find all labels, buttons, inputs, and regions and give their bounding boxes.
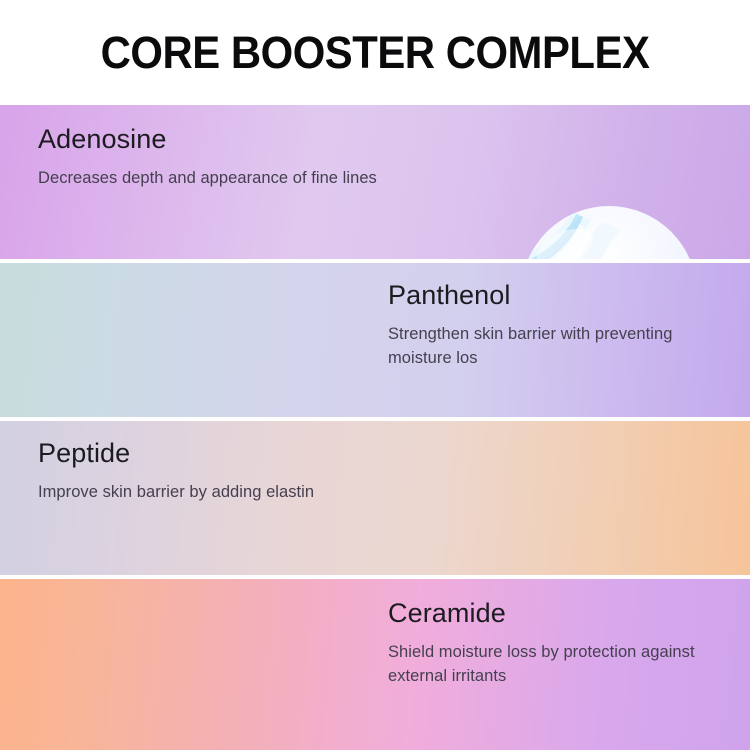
page-title: CORE BOOSTER COMPLEX <box>101 30 650 75</box>
ingredient-text-peptide: Peptide Improve skin barrier by adding e… <box>38 437 438 505</box>
ingredient-text-panthenol: Panthenol Strengthen skin barrier with p… <box>388 279 728 371</box>
ingredient-name: Adenosine <box>38 123 468 157</box>
ingredient-band-panthenol: Biotechnology Pharmaceutical <box>0 263 750 417</box>
ingredient-description: Shield moisture loss by protection again… <box>388 641 708 689</box>
ingredient-band-peptide: Peptide Improve skin barrier by adding e… <box>0 421 750 575</box>
ingredient-band-adenosine: Adenosine Decreases depth and appearance… <box>0 105 750 259</box>
ingredient-name: Panthenol <box>388 279 728 313</box>
ingredient-description: Strengthen skin barrier with preventing … <box>388 323 728 371</box>
ingredient-name: Peptide <box>38 437 438 471</box>
ingredient-text-ceramide: Ceramide Shield moisture loss by protect… <box>388 597 708 689</box>
title-bar: CORE BOOSTER COMPLEX <box>0 0 750 105</box>
ingredient-band-ceramide: Ceramide Shield moisture loss by protect… <box>0 579 750 750</box>
ingredient-description: Decreases depth and appearance of fine l… <box>38 167 468 191</box>
ingredient-description: Improve skin barrier by adding elastin <box>38 481 438 505</box>
ingredient-name: Ceramide <box>388 597 708 631</box>
infographic-root: CORE BOOSTER COMPLEX <box>0 0 750 750</box>
ingredient-text-adenosine: Adenosine Decreases depth and appearance… <box>38 123 468 191</box>
